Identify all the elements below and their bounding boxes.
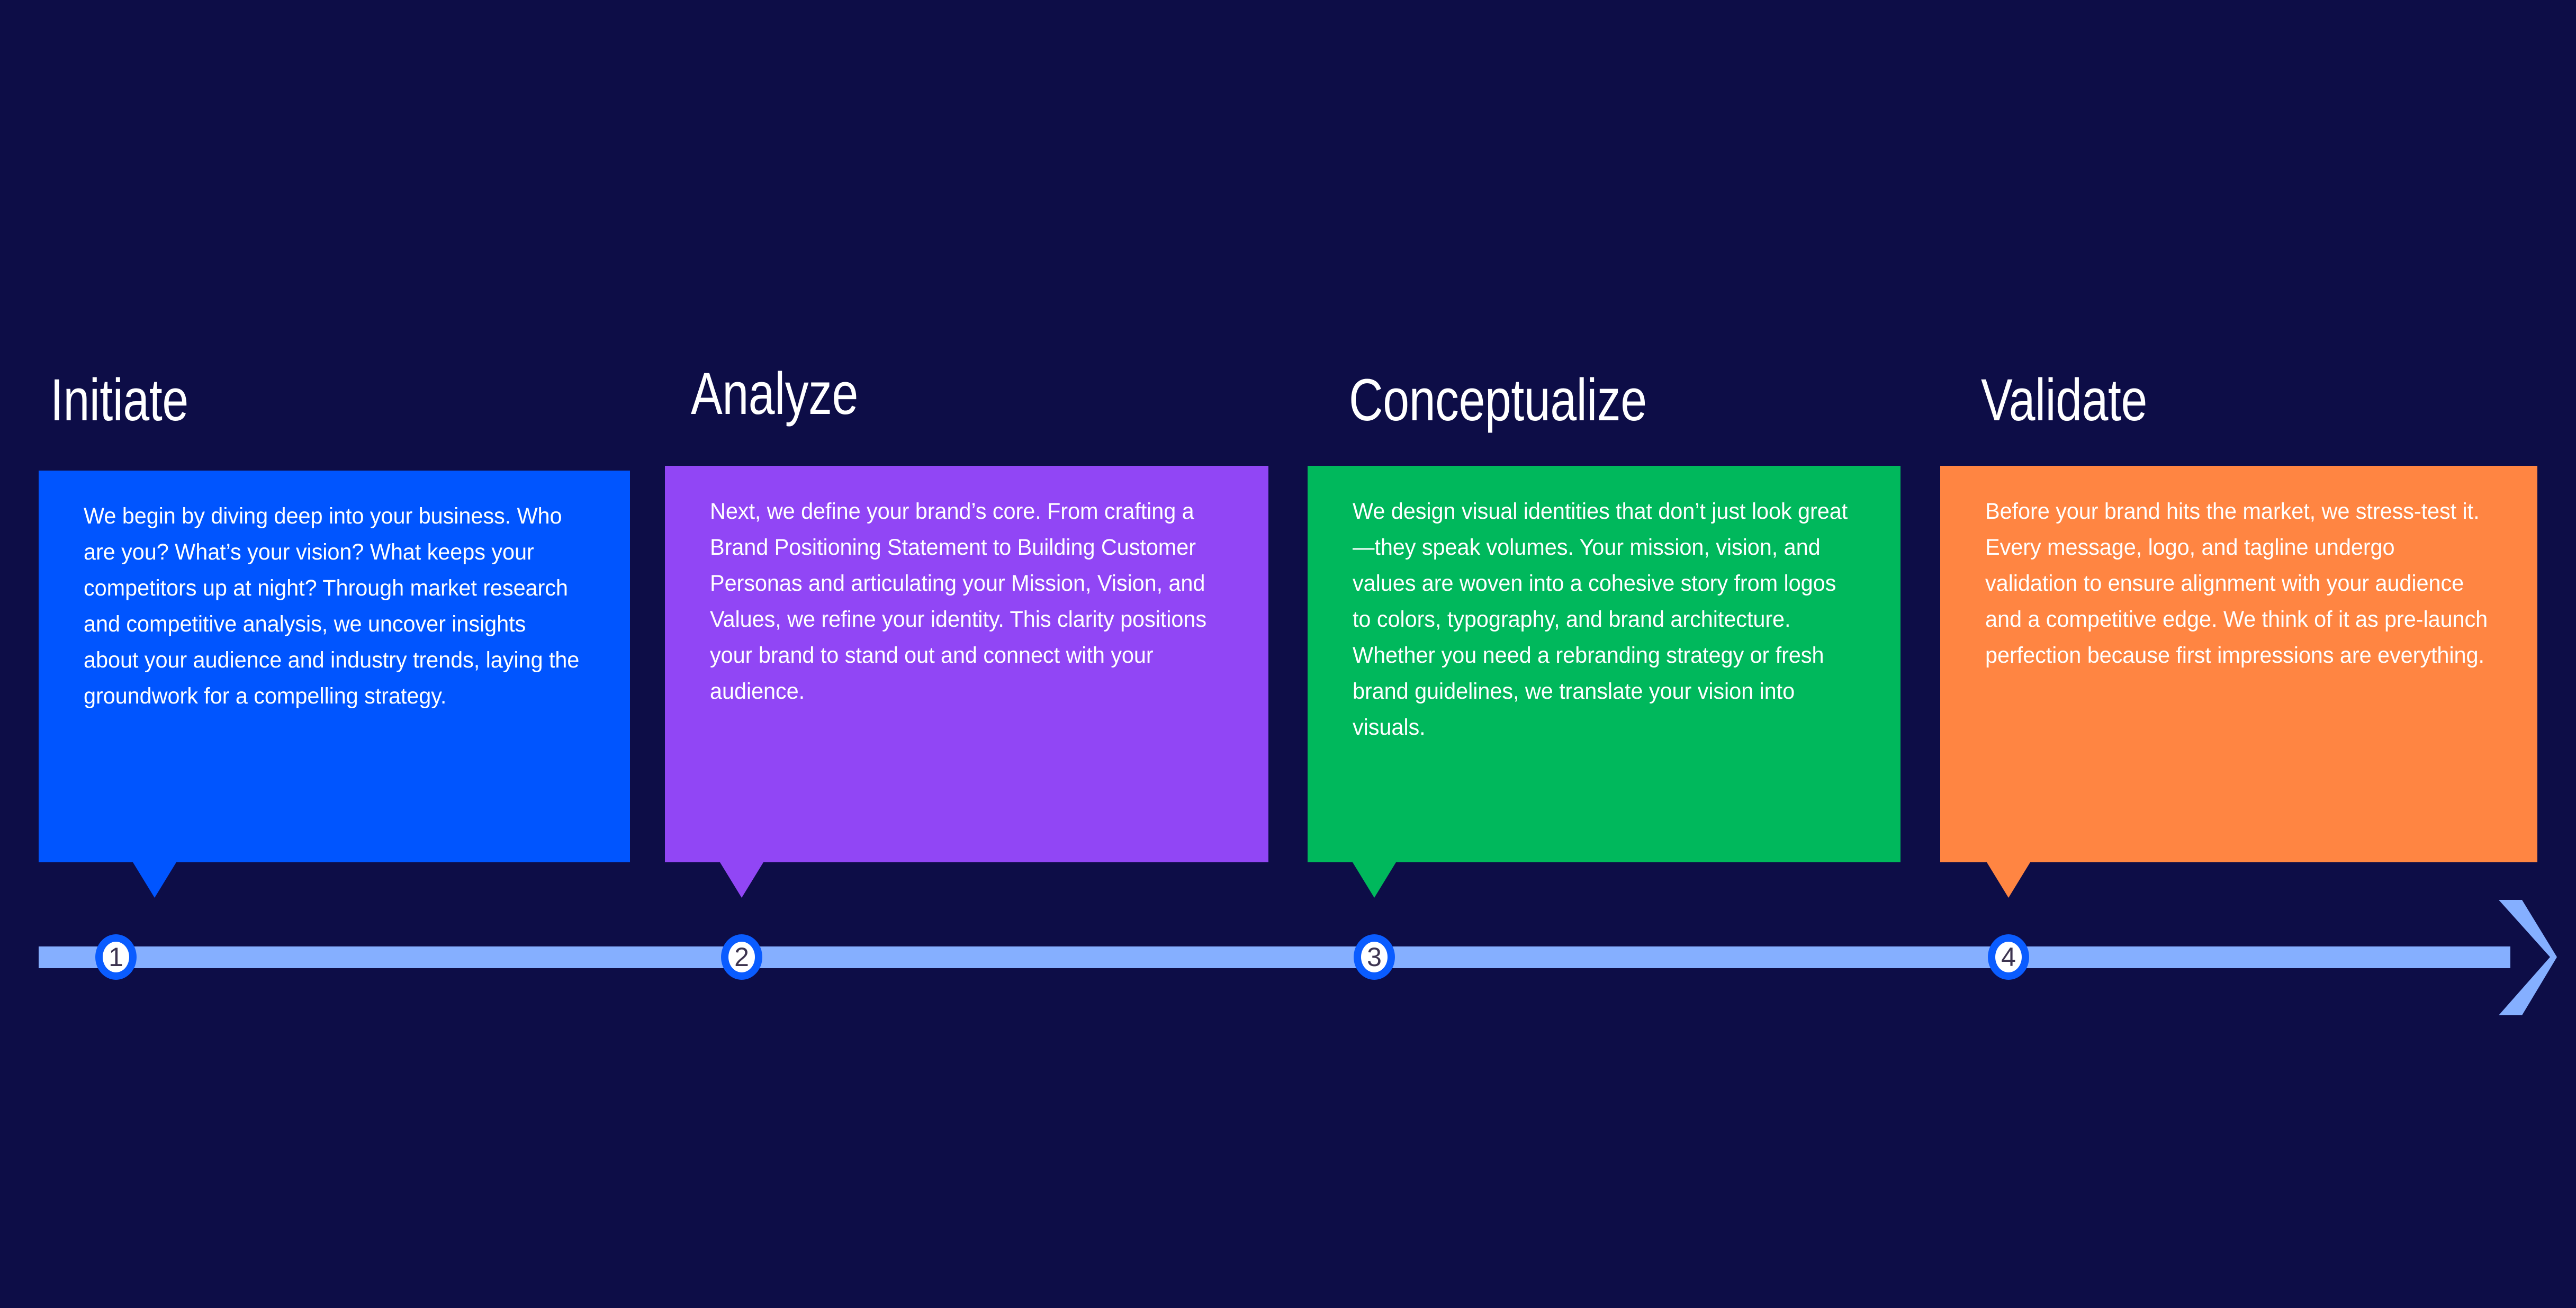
step-4-card-pointer [1987, 862, 2030, 898]
timeline-marker-1-number: 1 [109, 944, 123, 970]
timeline-marker-4[interactable]: 4 [1988, 934, 2029, 980]
step-4-title: Validate [1981, 371, 2147, 430]
step-4-card[interactable]: Before your brand hits the market, we st… [1940, 466, 2537, 862]
timeline-arrowhead-icon [2488, 895, 2557, 1022]
step-4-description: Before your brand hits the market, we st… [1985, 493, 2491, 673]
timeline-marker-1[interactable]: 1 [95, 934, 137, 980]
timeline-marker-2[interactable]: 2 [721, 934, 762, 980]
step-1-title: Initiate [50, 371, 188, 430]
process-timeline-infographic: Initiate We begin by diving deep into yo… [0, 0, 2576, 1308]
timeline-bar [39, 946, 2510, 968]
step-2-card[interactable]: Next, we define your brand’s core. From … [665, 466, 1268, 862]
timeline-marker-4-number: 4 [2001, 944, 2016, 970]
step-3-card-pointer [1353, 862, 1396, 898]
step-3-card[interactable]: We design visual identities that don’t j… [1308, 466, 1901, 862]
step-1-card-pointer [133, 862, 176, 898]
step-2-description: Next, we define your brand’s core. From … [710, 493, 1222, 709]
step-3-description: We design visual identities that don’t j… [1353, 493, 1855, 745]
step-1-description: We begin by diving deep into your busine… [84, 498, 584, 714]
step-3-title: Conceptualize [1349, 371, 1647, 430]
step-1-card[interactable]: We begin by diving deep into your busine… [39, 471, 630, 862]
timeline-marker-3[interactable]: 3 [1354, 934, 1395, 980]
timeline-marker-2-number: 2 [734, 944, 749, 970]
step-2-title: Analyze [691, 364, 858, 423]
step-2-card-pointer [720, 862, 763, 898]
timeline-marker-3-number: 3 [1367, 944, 1382, 970]
